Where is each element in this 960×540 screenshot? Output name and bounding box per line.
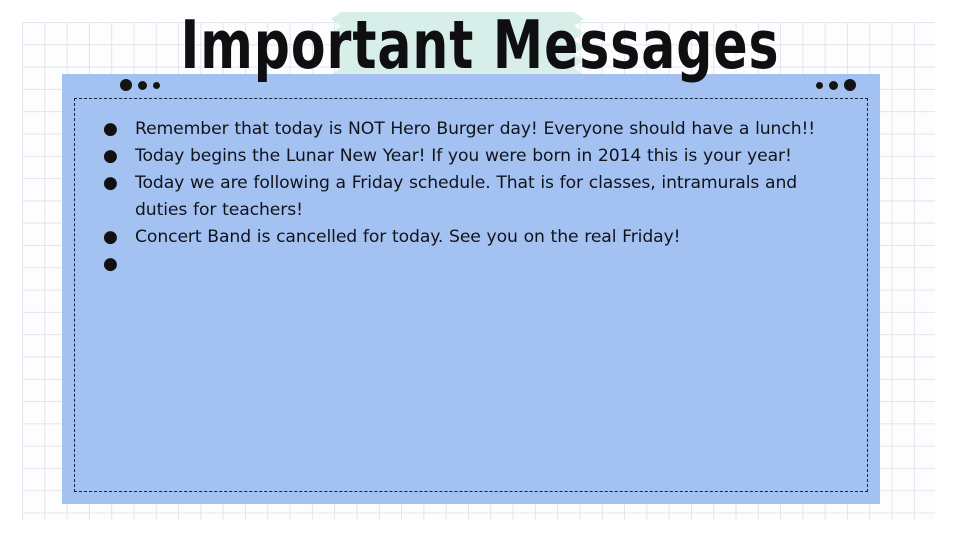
page-title: Important Messages [14,8,945,87]
list-item: ● Remember that today is NOT Hero Burger… [100,116,842,143]
message-card: ● Remember that today is NOT Hero Burger… [62,74,880,504]
slide-canvas: Important Messages ● Remember that today… [0,0,960,540]
list-item-label: Concert Band is cancelled for today. See… [135,224,842,251]
list-item: ● Concert Band is cancelled for today. S… [100,224,842,251]
bullet-icon: ● [100,143,135,170]
list-item: ● Today begins the Lunar New Year! If yo… [100,143,842,170]
list-item-label [135,251,842,278]
bullet-icon: ● [100,116,135,143]
bullet-icon: ● [100,251,135,278]
list-item-label: Today begins the Lunar New Year! If you … [135,143,842,170]
list-item-label: Today we are following a Friday schedule… [135,170,842,224]
messages-list: ● Remember that today is NOT Hero Burger… [100,116,842,278]
bullet-icon: ● [100,170,135,197]
list-item-label: Remember that today is NOT Hero Burger d… [135,116,842,143]
list-item: ● Today we are following a Friday schedu… [100,170,842,224]
bullet-icon: ● [100,224,135,251]
list-item: ● [100,251,842,278]
